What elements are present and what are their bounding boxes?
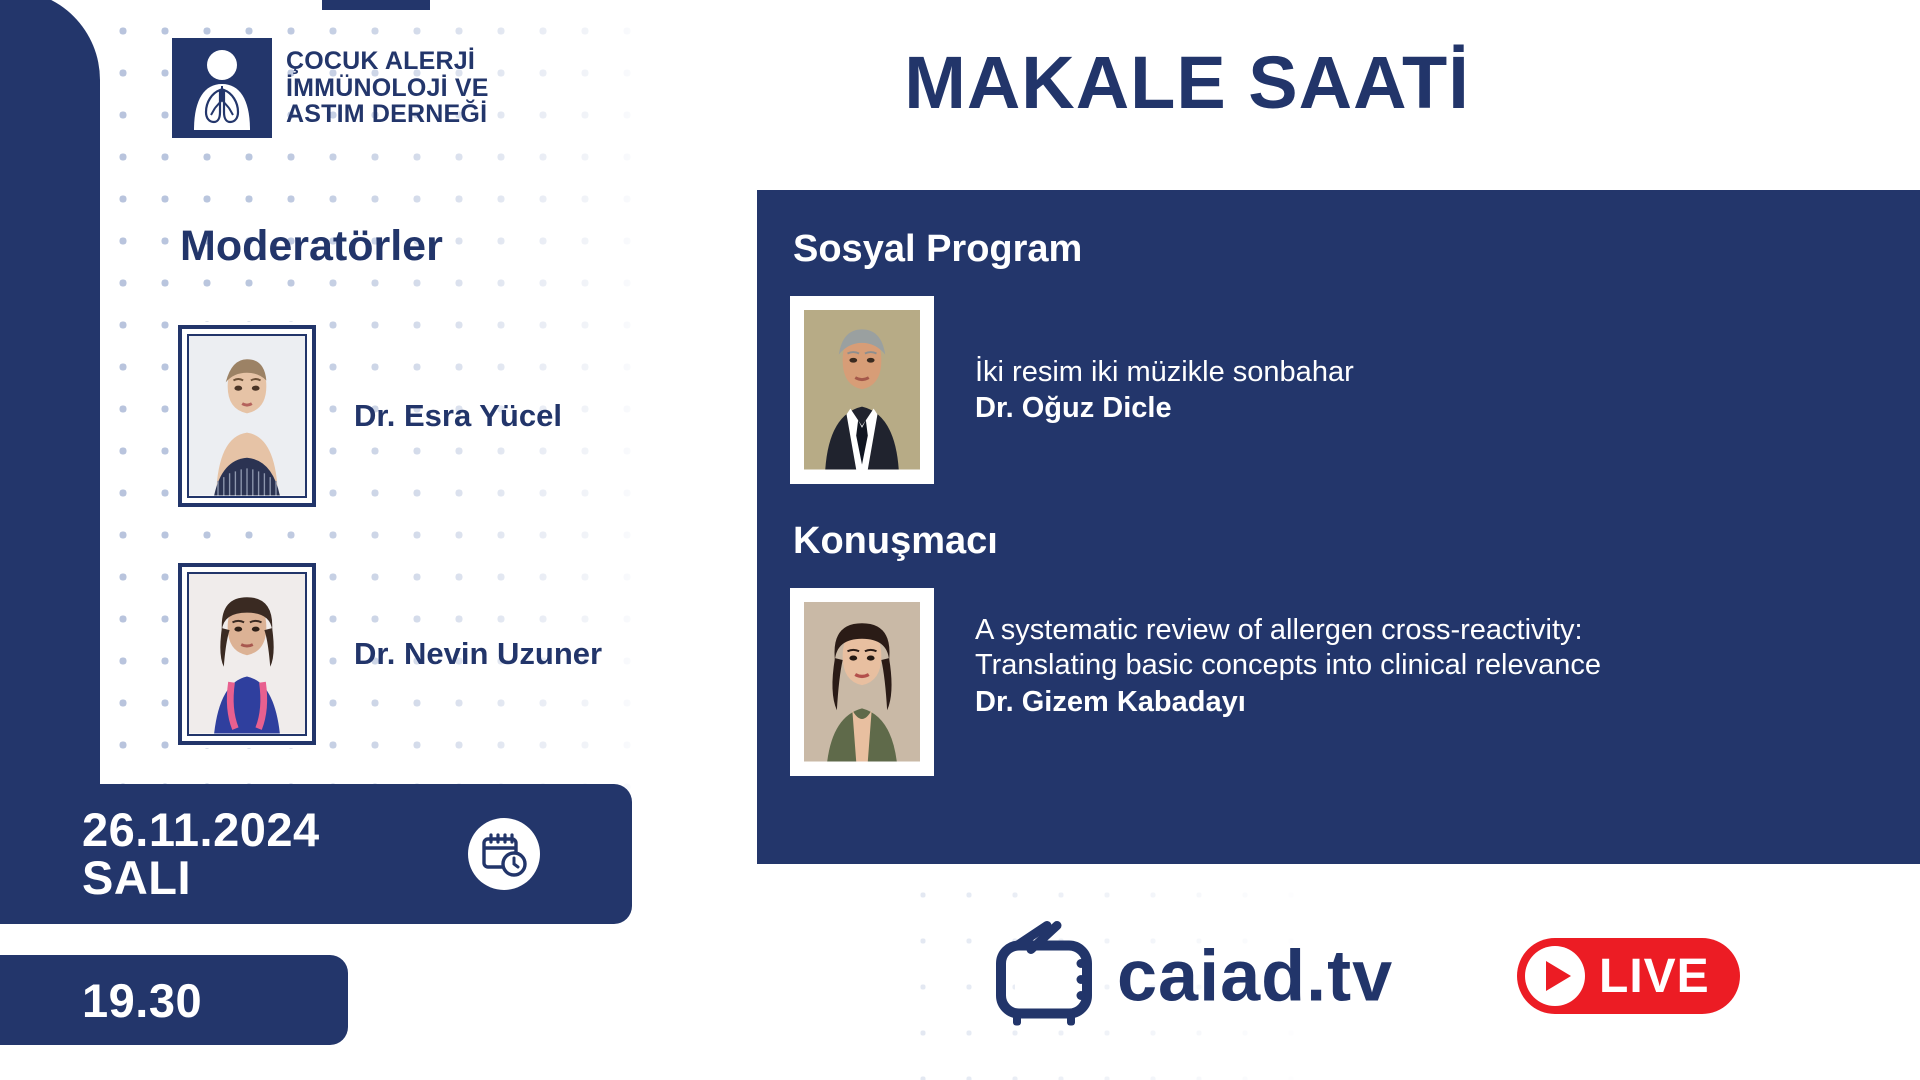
- entry-text: İki resim iki müzikle sonbahar Dr. Oğuz …: [975, 299, 1354, 425]
- association-name: ÇOCUK ALERJİ İMMÜNOLOJİ VE ASTIM DERNEĞİ: [286, 48, 489, 128]
- moderator-item: Dr. Esra Yücel: [178, 325, 562, 507]
- play-icon: [1525, 946, 1585, 1006]
- caiad-tv-logo[interactable]: caiad.tv: [995, 920, 1393, 1033]
- entry-speaker: Dr. Gizem Kabadayı: [975, 686, 1601, 719]
- time-badge: 19.30: [0, 955, 348, 1045]
- retro-tv-icon: [995, 920, 1111, 1033]
- live-badge[interactable]: LIVE: [1517, 938, 1740, 1014]
- moderator-item: Dr. Nevin Uzuner: [178, 563, 602, 745]
- association-logo: ÇOCUK ALERJİ İMMÜNOLOJİ VE ASTIM DERNEĞİ: [172, 38, 489, 138]
- section-heading: Sosyal Program: [793, 228, 1354, 271]
- entry-title-line-1: A systematic review of allergen cross-re…: [975, 613, 1601, 648]
- date-value: 26.11.2024: [82, 806, 320, 854]
- entry-title: İki resim iki müzikle sonbahar: [975, 355, 1354, 390]
- calendar-clock-icon: [468, 818, 540, 890]
- program-panel: Sosyal Program: [757, 190, 1920, 864]
- avatar: [793, 299, 931, 481]
- person-lungs-icon: [172, 38, 272, 138]
- entry-title-line-2: Translating basic concepts into clinical…: [975, 648, 1601, 683]
- avatar: [178, 563, 316, 745]
- program-entry: A systematic review of allergen cross-re…: [793, 591, 1601, 773]
- entry-speaker: Dr. Oğuz Dicle: [975, 392, 1354, 425]
- logo-line-3: ASTIM DERNEĞİ: [286, 101, 489, 128]
- logo-line-1: ÇOCUK ALERJİ: [286, 48, 489, 75]
- section-konusmaci: Konuşmacı: [793, 520, 1601, 773]
- section-heading: Konuşmacı: [793, 520, 1601, 563]
- day-value: SALI: [82, 854, 320, 902]
- time-value: 19.30: [82, 973, 202, 1028]
- moderators-heading: Moderatörler: [180, 222, 443, 271]
- date-text: 26.11.2024 SALI: [82, 806, 320, 902]
- entry-text: A systematic review of allergen cross-re…: [975, 591, 1601, 719]
- brand-name: caiad.tv: [1117, 935, 1393, 1017]
- moderator-name: Dr. Esra Yücel: [354, 398, 562, 434]
- logo-line-2: İMMÜNOLOJİ VE: [286, 75, 489, 102]
- avatar: [793, 591, 931, 773]
- avatar: [178, 325, 316, 507]
- poster-canvas: ÇOCUK ALERJİ İMMÜNOLOJİ VE ASTIM DERNEĞİ…: [0, 0, 1920, 1080]
- moderator-name: Dr. Nevin Uzuner: [354, 636, 602, 672]
- top-navy-tab: [322, 0, 430, 10]
- date-badge: 26.11.2024 SALI: [0, 784, 632, 924]
- program-entry: İki resim iki müzikle sonbahar Dr. Oğuz …: [793, 299, 1354, 481]
- section-sosyal-program: Sosyal Program: [793, 228, 1354, 481]
- live-label: LIVE: [1599, 949, 1710, 1004]
- page-title: MAKALE SAATİ: [757, 40, 1617, 125]
